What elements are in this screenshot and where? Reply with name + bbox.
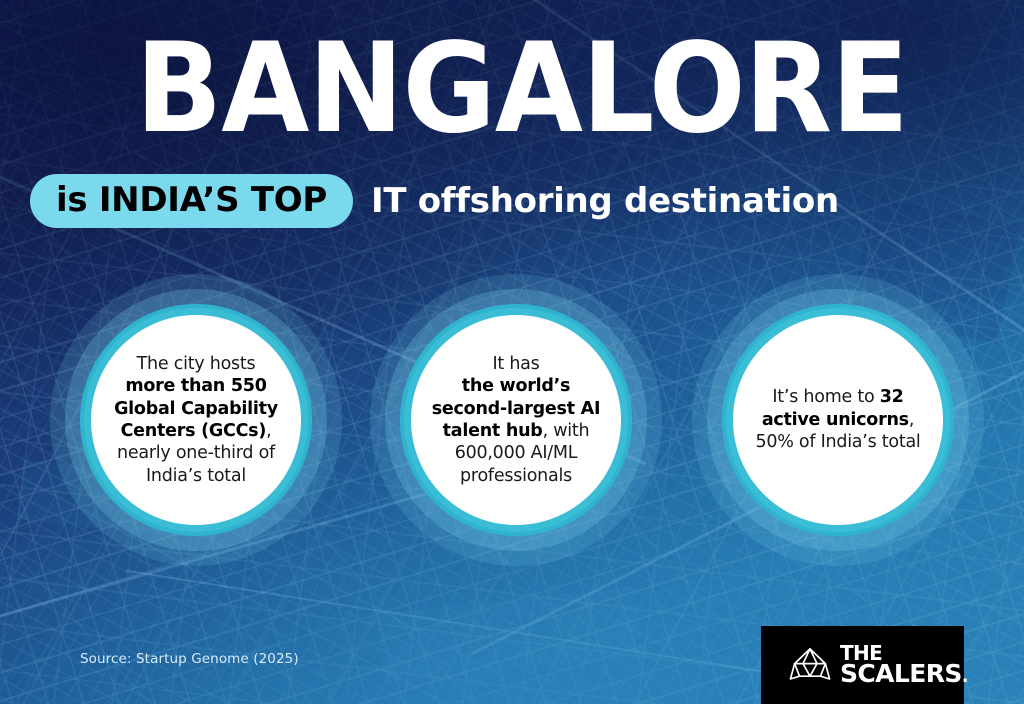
stat-text-ai-talent: It has the world’s second-largest AI tal… [423, 353, 609, 487]
logo-line-scalers: SCALERS. [840, 662, 968, 686]
logo-wordmark: THE SCALERS. [840, 644, 968, 687]
circle-disc: It’s home to 32 active unicorns, 50% of … [733, 315, 943, 525]
diamond-gem-icon [789, 646, 831, 684]
india-top-badge: is INDIA’S TOP [30, 174, 353, 228]
source-citation: Source: Startup Genome (2025) [80, 651, 299, 667]
the-scalers-logo: THE SCALERS. [761, 626, 964, 704]
stat-text-gcc: The city hosts more than 550 Global Capa… [103, 353, 289, 487]
stat-circle-ai-talent: It has the world’s second-largest AI tal… [366, 270, 666, 570]
subtitle-row: is INDIA’S TOP IT offshoring destination [30, 174, 839, 228]
stat-circle-group: The city hosts more than 550 Global Capa… [0, 270, 1024, 570]
page-title: BANGALORE [26, 36, 1017, 143]
subtitle-text: IT offshoring destination [371, 181, 839, 221]
stat-text-unicorns: It’s home to 32 active unicorns, 50% of … [745, 386, 931, 453]
stat-circle-unicorns: It’s home to 32 active unicorns, 50% of … [688, 270, 988, 570]
infographic-canvas: BANGALORE is INDIA’S TOP IT offshoring d… [0, 0, 1024, 704]
circle-disc: The city hosts more than 550 Global Capa… [91, 315, 301, 525]
stat-circle-gcc: The city hosts more than 550 Global Capa… [46, 270, 346, 570]
circle-disc: It has the world’s second-largest AI tal… [411, 315, 621, 525]
